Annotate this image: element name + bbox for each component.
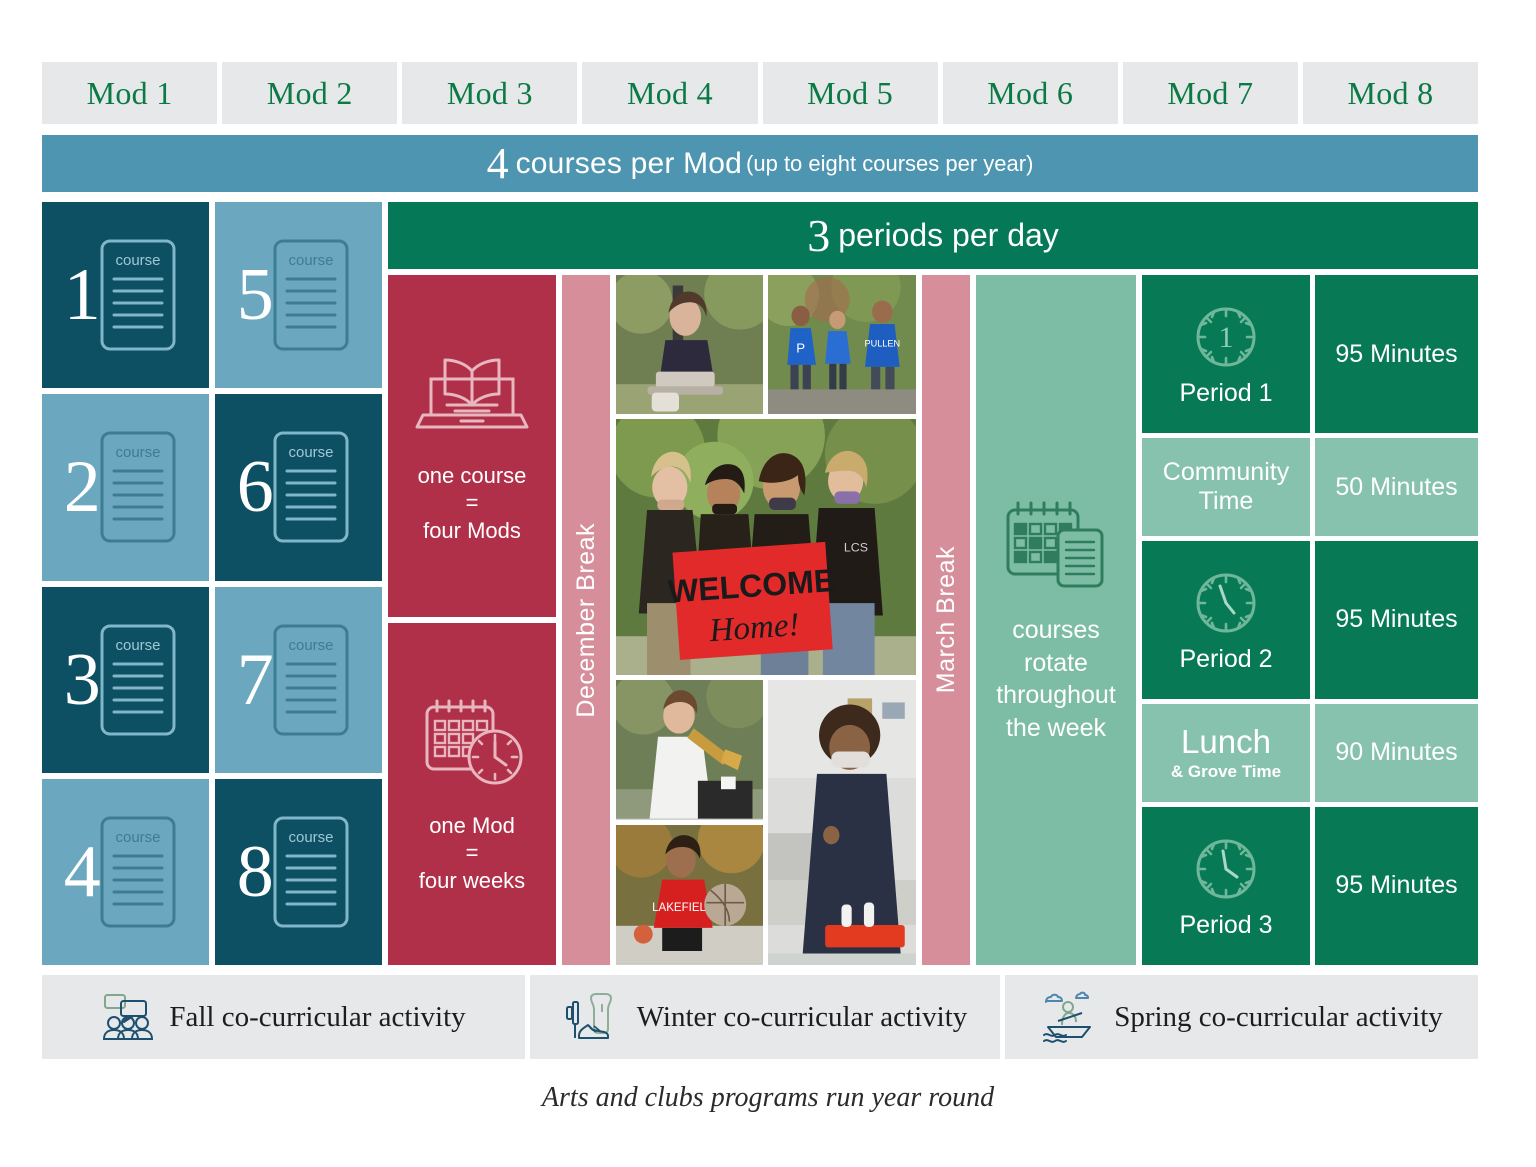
svg-text:course: course [288,444,333,461]
schedule-community-time-duration: 50 Minutes [1315,438,1478,536]
mid-columns: one course = four Mods [388,275,1478,965]
infographic-canvas: Mod 1 Mod 2 Mod 3 Mod 4 Mod 5 Mod 6 Mod … [0,0,1536,1167]
daily-schedule-grid: 1 Period 1 95 Minutes Community Time 50 … [1142,275,1478,965]
cocurricular-fall: Fall co-curricular activity [42,975,525,1059]
courses-per-mod-banner: 4 courses per Mod (up to eight courses p… [42,135,1478,192]
courses-rotate-panel: courses rotate throughout the week [976,275,1136,965]
clock-icon [1190,567,1262,639]
svg-text:course: course [115,637,160,654]
svg-text:1: 1 [1219,321,1234,354]
calendar-clock-icon [413,693,531,793]
clock-icon [1190,833,1262,905]
course-tile-4: course 4 [42,779,209,965]
laptop-book-icon [413,347,531,443]
svg-text:course: course [115,252,160,269]
course-tiles-grid: course 1 course [42,202,382,965]
cocurricular-winter-label: Winter co-curricular activity [637,1001,968,1034]
schedule-period-3-label: Period 3 [1179,911,1272,940]
periods-per-day-label: periods per day [838,217,1059,254]
cocurricular-spring-label: Spring co-curricular activity [1114,1001,1443,1034]
courses-per-mod-note: (up to eight courses per year) [746,151,1033,177]
march-break-label: March Break [932,546,961,693]
photo-welcome-home: LCS WELCOME Home! [616,419,916,675]
one-course-line1: one course [418,461,527,490]
svg-text:Home!: Home! [707,607,800,649]
course-document-icon: course [265,233,357,357]
mod-header-3: Mod 3 [402,62,577,124]
course-document-icon: course [265,425,357,549]
one-mod-equals: = [466,840,479,866]
schedule-lunch-label: Lunch [1181,723,1271,761]
photo-collage: P [616,275,916,965]
courses-per-mod-label: courses per Mod [516,147,742,181]
course-document-icon: course [92,810,184,934]
course-tile-number: 6 [237,450,274,524]
photo-runners: P [768,275,916,414]
main-body: course 1 course [42,202,1478,965]
schedule-lunch-sublabel: & Grove Time [1171,762,1281,782]
mid-section: 3 periods per day [388,202,1478,965]
schedule-period-1-label: Period 1 [1179,379,1272,408]
schedule-period-2-minutes: 95 Minutes [1335,605,1457,634]
rowing-icon [1040,991,1100,1043]
course-tile-number: 1 [64,258,101,332]
course-tile-number: 8 [237,835,274,909]
footer-caption: Arts and clubs programs run year round [0,1082,1536,1114]
courses-rotate-label: courses rotate throughout the week [984,614,1128,744]
december-break-label: December Break [572,523,601,718]
march-break-bar: March Break [922,275,970,965]
mod-header-row: Mod 1 Mod 2 Mod 3 Mod 4 Mod 5 Mod 6 Mod … [42,62,1478,124]
course-tile-number: 3 [64,643,101,717]
cocurricular-winter: Winter co-curricular activity [530,975,1000,1059]
mod-header-6: Mod 6 [943,62,1118,124]
svg-text:course: course [288,637,333,654]
schedule-community-time: Community Time [1142,438,1310,536]
course-tile-number: 2 [64,450,101,524]
photo-trumpet-player [616,680,763,820]
svg-text:course: course [288,252,333,269]
photo-science-lab [768,680,916,965]
one-mod-four-weeks-card: one Mod = four weeks [388,623,556,965]
mod-header-1: Mod 1 [42,62,217,124]
one-mod-line1: one Mod [429,811,515,840]
courses-per-mod-number: 4 [487,142,509,186]
svg-text:course: course [115,444,160,461]
december-break-bar: December Break [562,275,610,965]
course-document-icon: course [92,618,184,742]
schedule-period-3: Period 3 [1142,807,1310,965]
mod-header-4: Mod 4 [582,62,757,124]
course-tile-number: 7 [237,643,274,717]
course-document-icon: course [92,425,184,549]
schedule-lunch-minutes: 90 Minutes [1335,738,1457,767]
schedule-period-1: 1 Period 1 [1142,275,1310,433]
one-course-equals: = [466,490,479,516]
mod-header-7: Mod 7 [1123,62,1298,124]
svg-text:LCS: LCS [844,540,868,554]
gym-gear-icon [563,992,623,1042]
svg-text:course: course [115,829,160,846]
definitions-column: one course = four Mods [388,275,556,965]
photo-basketball-player: LAKEFIELD [616,825,763,965]
people-chat-icon [101,992,155,1042]
clock-icon: 1 [1190,301,1262,373]
schedule-period-1-duration: 95 Minutes [1315,275,1478,433]
course-document-icon: course [265,618,357,742]
course-tile-1: course 1 [42,202,209,388]
course-tile-5: course 5 [215,202,382,388]
mod-header-5: Mod 5 [763,62,938,124]
cocurricular-spring: Spring co-curricular activity [1005,975,1478,1059]
course-tile-6: course 6 [215,394,382,580]
schedule-period-3-duration: 95 Minutes [1315,807,1478,965]
course-tile-number: 5 [237,258,274,332]
schedule-period-2: Period 2 [1142,541,1310,699]
calendar-document-icon [1000,496,1112,592]
one-course-line2: four Mods [423,516,521,545]
course-tile-2: course 2 [42,394,209,580]
course-tile-8: course 8 [215,779,382,965]
course-tile-7: course 7 [215,587,382,773]
periods-per-day-number: 3 [807,213,830,259]
mod-header-8: Mod 8 [1303,62,1478,124]
course-tile-3: course 3 [42,587,209,773]
one-mod-line2: four weeks [419,866,525,895]
schedule-lunch: Lunch & Grove Time [1142,704,1310,802]
schedule-period-3-minutes: 95 Minutes [1335,871,1457,900]
schedule-community-time-label: Community Time [1146,458,1306,516]
photo-student-laptop [616,275,763,414]
photo-left-stack: LAKEFIELD [616,680,763,965]
one-course-four-mods-card: one course = four Mods [388,275,556,617]
course-tile-number: 4 [64,835,101,909]
svg-text:course: course [288,829,333,846]
schedule-period-2-label: Period 2 [1179,645,1272,674]
schedule-lunch-duration: 90 Minutes [1315,704,1478,802]
cocurricular-row: Fall co-curricular activity Winter co-cu… [42,975,1478,1059]
svg-text:P: P [796,341,805,356]
schedule-period-2-duration: 95 Minutes [1315,541,1478,699]
course-document-icon: course [265,810,357,934]
cocurricular-fall-label: Fall co-curricular activity [169,1001,465,1034]
periods-per-day-banner: 3 periods per day [388,202,1478,269]
mod-header-2: Mod 2 [222,62,397,124]
svg-text:PULLEN: PULLEN [864,338,900,348]
schedule-period-1-minutes: 95 Minutes [1335,340,1457,369]
course-document-icon: course [92,233,184,357]
schedule-community-time-minutes: 50 Minutes [1335,473,1457,502]
